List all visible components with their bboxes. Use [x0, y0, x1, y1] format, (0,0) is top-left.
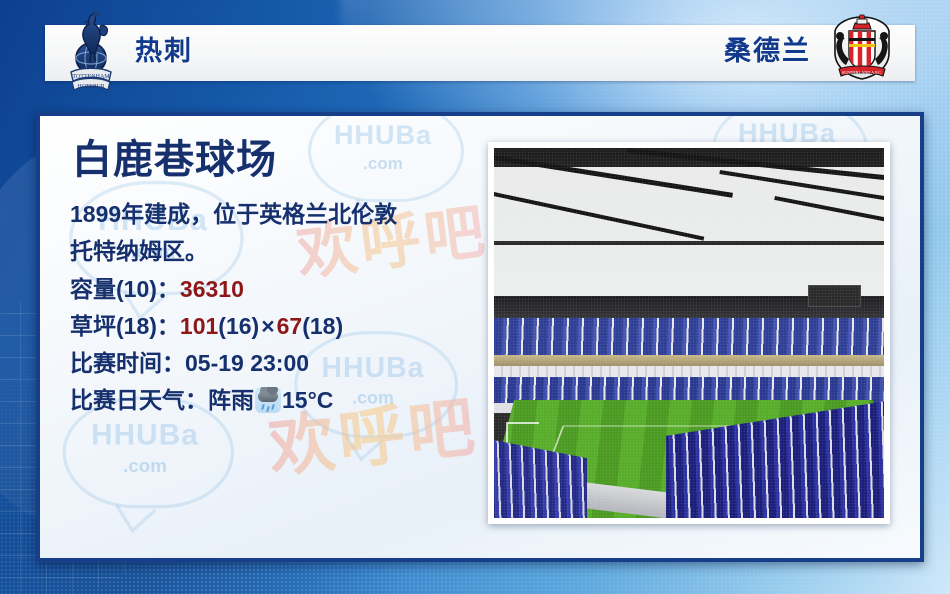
shower-rain-icon — [255, 387, 281, 413]
stadium-info-column: 白鹿巷球场 1899年建成，位于英格兰北伦敦 托特纳姆区。 容量(10)：363… — [70, 138, 490, 420]
away-team-name: 桑德兰 — [724, 29, 811, 68]
weather-condition: 阵雨 — [208, 387, 254, 413]
kickoff-label: 比赛时间： — [70, 350, 185, 376]
pitch-size-row: 草坪(18)：101(16)×67(18) — [70, 308, 490, 345]
watermark-bubble-domain: .com — [63, 456, 228, 478]
watermark-bubble-text: HHUBa — [63, 418, 228, 452]
pitch-length-rank: (16) — [218, 313, 259, 339]
kickoff-row: 比赛时间：05-19 23:00 — [70, 345, 490, 382]
svg-text:HOTSPUR: HOTSPUR — [77, 84, 104, 90]
pitch-size-label: 草坪(18)： — [70, 313, 180, 339]
svg-text:SUNDERLAND A.F.C.: SUNDERLAND A.F.C. — [842, 70, 882, 75]
weather-row: 比赛日天气：阵雨15°C — [70, 382, 490, 419]
pitch-size-separator: × — [259, 313, 276, 339]
pitch-length-value: 101 — [180, 313, 218, 339]
svg-text:TOTTENHAM: TOTTENHAM — [72, 74, 110, 80]
home-team-name: 热刺 — [135, 29, 193, 68]
sunderland-afc-crest-icon: SUNDERLAND A.F.C. — [827, 13, 897, 83]
stadium-photo-frame[interactable] — [488, 142, 890, 524]
pitch-width-value: 67 — [277, 313, 303, 339]
stadium-title: 白鹿巷球场 — [72, 138, 490, 182]
weather-label: 比赛日天气： — [70, 387, 208, 413]
match-header-bar: TOTTENHAM HOTSPUR 热刺 桑德兰 — [45, 25, 915, 81]
capacity-row: 容量(10)：36310 — [70, 271, 490, 308]
pitch-width-rank: (18) — [302, 313, 343, 339]
stadium-description-line-1: 1899年建成，位于英格兰北伦敦 — [70, 196, 490, 233]
broadcast-graphic-stage: TOTTENHAM HOTSPUR 热刺 桑德兰 — [0, 0, 950, 594]
capacity-value: 36310 — [180, 276, 244, 302]
capacity-label: 容量(10)： — [70, 276, 180, 302]
home-team-block[interactable]: TOTTENHAM HOTSPUR 热刺 — [63, 11, 193, 85]
stadium-description-line-2: 托特纳姆区。 — [70, 233, 490, 270]
away-team-block[interactable]: 桑德兰 — [724, 11, 897, 85]
tottenham-hotspur-crest-icon: TOTTENHAM HOTSPUR — [63, 2, 119, 94]
stadium-photo — [494, 148, 884, 518]
kickoff-value: 05-19 23:00 — [185, 350, 309, 376]
weather-temperature: 15°C — [282, 387, 333, 413]
stadium-info-panel: HHUBa .com HHUBa .com HHUBa .com HHUBa .… — [36, 112, 924, 562]
